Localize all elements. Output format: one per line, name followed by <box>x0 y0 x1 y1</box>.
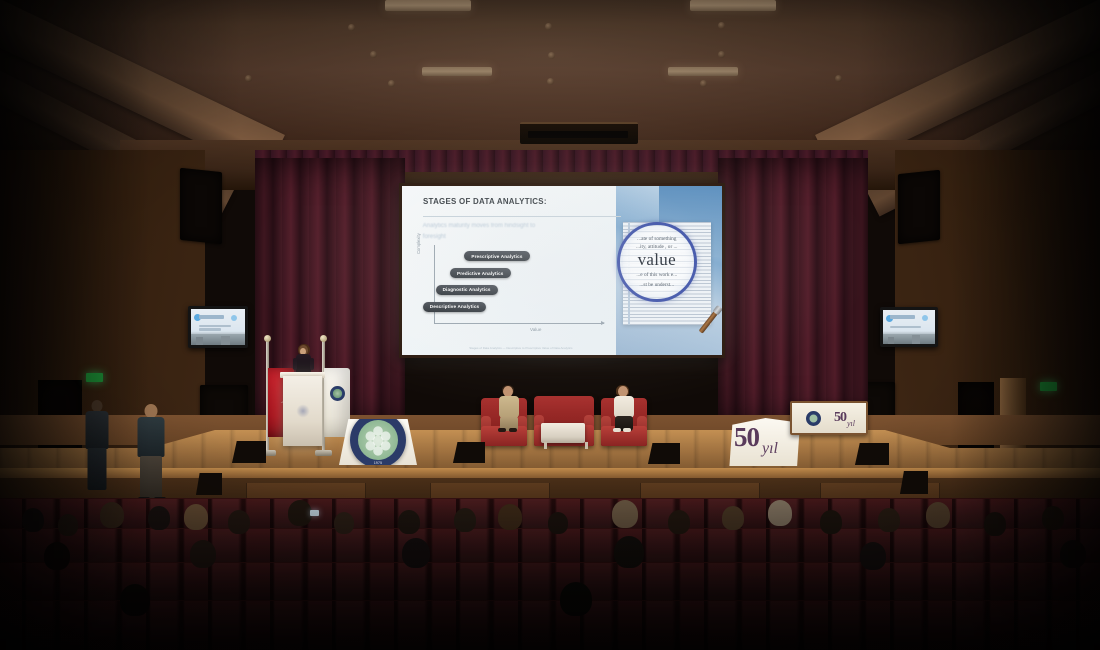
panelist-left <box>498 386 520 430</box>
panelist-torso <box>614 396 634 418</box>
anniversary-banner: 50 yıl <box>790 401 868 435</box>
audience-head <box>614 536 644 568</box>
university-crest-icon <box>806 411 821 426</box>
audience-head <box>148 506 170 530</box>
audience-head <box>58 514 78 536</box>
monitor-text-line <box>199 325 231 328</box>
audience-head <box>334 512 354 534</box>
panelist-shoe <box>623 428 631 432</box>
magnifier-graphic: ...ate of something ...ity, attitude , o… <box>615 215 717 340</box>
anniversary-number: 50 <box>834 410 846 426</box>
audience-head <box>722 506 744 530</box>
magnifier-lens-icon: ...ate of something ...ity, attitude , o… <box>617 222 697 302</box>
exit-sign-icon <box>86 373 103 382</box>
panelist-right <box>613 386 635 430</box>
person-torso <box>138 417 165 457</box>
standing-person-front <box>136 404 166 500</box>
slide-subtitle: Analytics maturity moves from hindsight … <box>423 221 589 242</box>
magnifier-word: value <box>638 250 676 270</box>
audience-head <box>190 540 216 568</box>
chart-x-axis <box>434 323 604 324</box>
audience-head <box>120 584 150 616</box>
wall-monitor-left <box>188 306 248 348</box>
magnifier-text-bot-2: ...st be underst... <box>639 282 674 288</box>
stage-monitor-wedge <box>855 443 889 465</box>
audience-head <box>1060 540 1086 568</box>
monitor-text-line <box>890 326 921 329</box>
monitor-text-line <box>199 328 222 331</box>
slide: STAGES OF DATA ANALYTICS: Analytics matu… <box>402 186 722 355</box>
wall-speaker <box>180 168 222 244</box>
curtain-right <box>718 158 868 423</box>
speaker-arm-left <box>293 358 297 370</box>
audience-head <box>878 508 900 532</box>
auditorium-scene: STAGES OF DATA ANALYTICS: Analytics matu… <box>0 0 1100 650</box>
person-torso <box>86 411 109 449</box>
audience-head <box>668 510 690 534</box>
seal-pattern <box>362 424 394 456</box>
seal-text-bottom: 1975 <box>350 461 406 465</box>
stage-monitor-wedge <box>232 441 266 463</box>
audience-head <box>498 504 522 530</box>
stage-monitor-wedge <box>453 442 485 463</box>
anniversary-word: yıl <box>847 419 855 428</box>
audience-head <box>612 500 638 528</box>
university-crest-icon <box>330 386 345 401</box>
stage-pill-descriptive: Descriptive Analytics <box>423 302 486 312</box>
audience-head <box>402 538 430 568</box>
university-seal-icon: BURSA ULUDAG UNIVERSITESI 1975 <box>350 412 406 468</box>
monitor-screen <box>191 309 245 345</box>
audience-head <box>768 500 792 526</box>
monitor-badge-icon <box>922 315 928 321</box>
wall-monitor-right <box>880 307 938 347</box>
audience-head <box>288 500 312 526</box>
university-seal-sign: BURSA ULUDAG UNIVERSITESI 1975 <box>339 419 417 465</box>
stage-pill-prescriptive: Prescriptive Analytics <box>464 251 529 261</box>
podium <box>283 376 322 446</box>
seal-inner <box>358 420 398 460</box>
audience-head <box>1042 506 1064 530</box>
panelist-torso <box>499 396 519 418</box>
slide-credit: Stages of Data Analytics — Descriptive t… <box>469 346 572 350</box>
audience-head <box>184 504 208 530</box>
stage-monitor-wedge <box>648 443 680 464</box>
audience-head <box>560 582 592 616</box>
slide-divider <box>423 216 621 217</box>
person-head <box>145 404 158 418</box>
projection-screen: STAGES OF DATA ANALYTICS: Analytics matu… <box>399 183 725 358</box>
panelist-shoe <box>509 428 517 432</box>
chart-x-axis-label: Value <box>530 327 541 332</box>
audience-head <box>984 512 1006 536</box>
person-legs <box>140 456 162 498</box>
slide-subtitle-line2: foresight <box>423 232 589 243</box>
audience-head <box>398 510 420 534</box>
stage-monitor-wedge <box>900 471 928 494</box>
slide-subtitle-line1: Analytics maturity moves from hindsight … <box>423 221 589 232</box>
wall-speaker <box>898 170 940 244</box>
person-legs <box>88 448 107 490</box>
projector-housing <box>520 122 638 144</box>
audience-head <box>820 510 842 534</box>
panelist-shoe <box>613 428 621 432</box>
audience-head <box>228 510 250 534</box>
audience-head <box>926 502 950 528</box>
audience-seating <box>0 498 1100 650</box>
exit-sign-icon <box>1040 382 1057 391</box>
anniversary-word: yıl <box>762 440 778 458</box>
standing-person-door <box>84 400 110 490</box>
audience-head <box>548 512 568 534</box>
audience-head <box>22 508 44 532</box>
flag-cloth-university <box>324 368 350 437</box>
coffee-table <box>541 423 585 443</box>
monitor-screen <box>883 310 935 344</box>
stage-monitor-wedge <box>196 473 222 495</box>
monitor-image <box>191 334 245 345</box>
monitor-image <box>883 334 935 344</box>
seat-row <box>0 600 1100 650</box>
slide-title: STAGES OF DATA ANALYTICS: <box>423 196 547 206</box>
magnifier-text-top-1: ...ate of something <box>637 236 676 242</box>
stage-pill-diagnostic: Diagnostic Analytics <box>436 285 498 295</box>
audience-phone-screen <box>310 510 319 516</box>
speaker-arm-right <box>310 358 314 370</box>
flag-base <box>315 450 332 456</box>
monitor-badge-icon <box>231 315 237 321</box>
stage-pill-predictive: Predictive Analytics <box>450 268 511 278</box>
audience-head <box>454 508 476 532</box>
audience-head <box>100 502 124 528</box>
chart-y-axis-label: Complexity <box>416 233 421 254</box>
audience-head <box>860 542 886 570</box>
monitor-title-line <box>890 315 915 319</box>
anniversary-number: 50 <box>734 422 759 453</box>
audience-head <box>44 542 70 570</box>
magnifier-text-bot-1: ...e of this work e... <box>636 272 677 278</box>
panelist-shoe <box>498 428 506 432</box>
monitor-title-line <box>199 315 225 319</box>
